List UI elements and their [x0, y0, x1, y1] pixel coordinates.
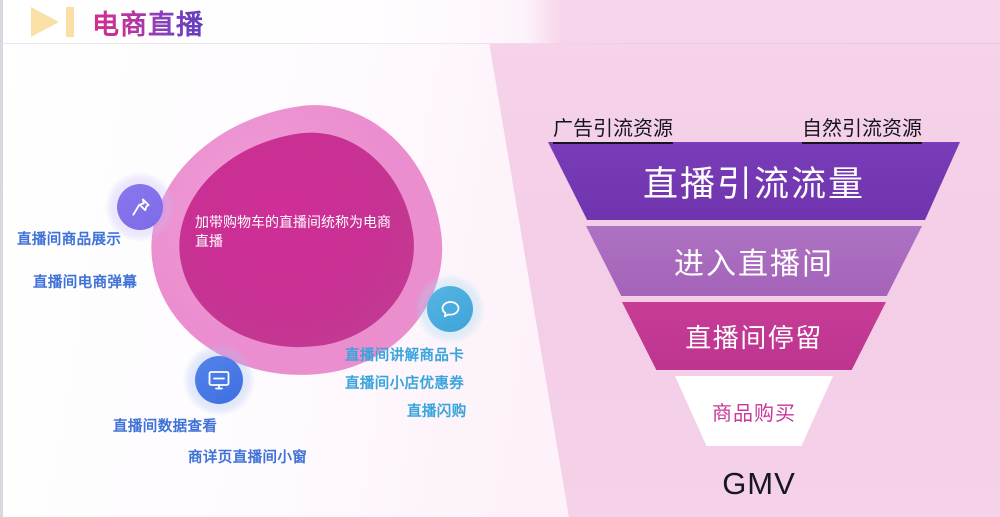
funnel-stage-traffic[interactable]: 直播引流流量: [548, 142, 960, 220]
page-title: 电商直播: [92, 3, 204, 42]
funnel-stage-traffic-label: 直播引流流量: [643, 156, 865, 207]
funnel-stage-enter-room[interactable]: 进入直播间: [586, 226, 922, 296]
source-label-ad: 广告引流资源: [553, 112, 673, 144]
funnel-stage-stay-label: 直播间停留: [685, 318, 823, 355]
source-label-organic: 自然引流资源: [802, 112, 922, 144]
play-triangle-icon: [31, 7, 59, 37]
header-divider: [3, 43, 1000, 44]
caption-goods-display: 直播间商品展示: [17, 228, 121, 249]
pin-badge-core: [117, 184, 163, 230]
funnel-stage-enter-room-label: 进入直播间: [674, 239, 834, 283]
play-bar-icon: [66, 7, 74, 37]
caption-data-view: 直播间数据查看: [113, 415, 217, 436]
pin-icon: [129, 196, 152, 219]
slide-header: 电商直播: [3, 0, 1000, 44]
monitor-badge-core: [195, 356, 243, 404]
caption-shop-coupon: 直播间小店优惠券: [345, 372, 464, 393]
chat-badge-core: [427, 286, 473, 332]
caption-product-card: 直播间讲解商品卡: [345, 344, 464, 365]
chat-badge[interactable]: [427, 286, 473, 332]
funnel-outcome-gmv: GMV: [3, 466, 1000, 502]
funnel-stage-stay[interactable]: 直播间停留: [622, 302, 886, 370]
caption-danmu: 直播间电商弹幕: [33, 271, 137, 292]
monitor-icon: [207, 368, 231, 392]
blob-definition-text: 加带购物车的直播间统称为电商直播: [195, 213, 395, 251]
funnel-stage-purchase-label: 商品购买: [712, 397, 796, 426]
chat-bubble-icon: [439, 298, 462, 321]
live-commerce-blob: 加带购物车的直播间统称为电商直播: [151, 108, 441, 376]
caption-flash-sale: 直播闪购: [407, 400, 467, 421]
monitor-badge[interactable]: [195, 356, 243, 404]
slide-canvas: 电商直播 加带购物车的直播间统称为电商直播: [0, 0, 1000, 517]
caption-detail-window: 商详页直播间小窗: [188, 446, 307, 467]
pin-badge[interactable]: [117, 184, 163, 230]
